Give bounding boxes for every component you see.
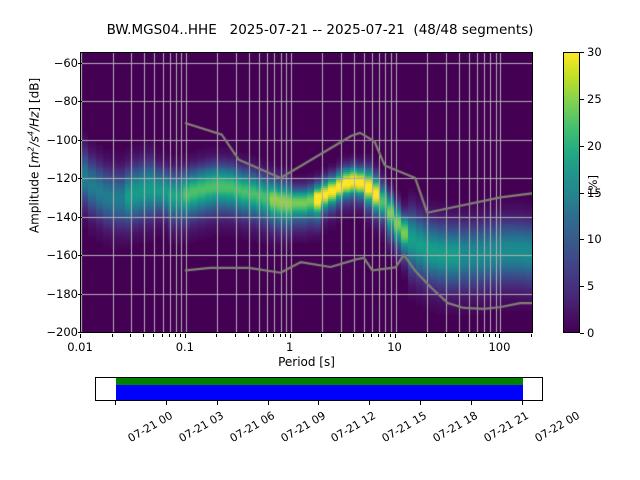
ppsd-plot-area[interactable] bbox=[80, 52, 533, 333]
y-tick-mark bbox=[78, 332, 82, 333]
x-tick-minor bbox=[483, 334, 484, 337]
x-tick-minor bbox=[390, 334, 391, 337]
timeline-date-label: 07-22 00 bbox=[532, 409, 581, 445]
x-tick-minor bbox=[489, 334, 490, 337]
x-tick-label: 0.01 bbox=[67, 340, 93, 354]
x-tick-minor bbox=[426, 334, 427, 337]
x-tick-minor bbox=[273, 334, 274, 337]
y-tick-mark bbox=[78, 294, 82, 295]
x-tick-minor bbox=[180, 334, 181, 337]
y-tick-mark bbox=[78, 178, 82, 179]
x-axis-title: Period [s] bbox=[80, 355, 533, 369]
x-tick-minor bbox=[130, 334, 131, 337]
x-tick-minor bbox=[169, 334, 170, 337]
x-tick-label: 0.1 bbox=[176, 340, 194, 354]
x-tick-major bbox=[290, 334, 291, 338]
data-coverage-band bbox=[116, 378, 523, 385]
colorbar-tick-mark bbox=[580, 52, 584, 53]
x-tick-minor bbox=[280, 334, 281, 337]
colorbar-tick-mark bbox=[580, 146, 584, 147]
x-tick-label: 1 bbox=[286, 340, 293, 354]
x-tick-minor bbox=[321, 334, 322, 337]
x-tick-minor bbox=[371, 334, 372, 337]
x-tick-label: 100 bbox=[488, 340, 510, 354]
x-tick-minor bbox=[468, 334, 469, 337]
timeline-date-labels: 07-21 0007-21 0307-21 0607-21 0907-21 12… bbox=[0, 401, 640, 471]
x-tick-major bbox=[80, 334, 81, 338]
x-tick-minor bbox=[458, 334, 459, 337]
x-tick-minor bbox=[162, 334, 163, 337]
colorbar-tick-label: 30 bbox=[587, 45, 602, 59]
ppsd-figure: BW.MGS04..HHE 2025-07-21 -- 2025-07-21 (… bbox=[0, 0, 640, 480]
x-tick-minor bbox=[153, 334, 154, 337]
timeline-date-label: 07-21 15 bbox=[380, 409, 429, 445]
x-tick-minor bbox=[216, 334, 217, 337]
x-tick-minor bbox=[235, 334, 236, 337]
timeline-date-label: 07-21 06 bbox=[227, 409, 276, 445]
x-tick-minor bbox=[112, 334, 113, 337]
colorbar-gradient bbox=[563, 52, 580, 333]
x-tick-minor bbox=[175, 334, 176, 337]
x-tick-minor bbox=[384, 334, 385, 337]
y-tick-mark bbox=[78, 101, 82, 102]
timeline-date-label: 07-21 09 bbox=[278, 409, 327, 445]
colorbar-tick-mark bbox=[580, 99, 584, 100]
x-tick-major bbox=[185, 334, 186, 338]
colorbar-tick-mark bbox=[580, 239, 584, 240]
x-tick-major bbox=[499, 334, 500, 338]
x-tick-minor bbox=[285, 334, 286, 337]
figure-title: BW.MGS04..HHE 2025-07-21 -- 2025-07-21 (… bbox=[0, 22, 640, 38]
y-tick-mark bbox=[78, 255, 82, 256]
x-tick-minor bbox=[248, 334, 249, 337]
timeline-date-label: 07-21 18 bbox=[431, 409, 480, 445]
y-tick-label: −200 bbox=[32, 325, 78, 339]
x-tick-minor bbox=[445, 334, 446, 337]
x-tick-minor bbox=[143, 334, 144, 337]
psd-histogram-canvas bbox=[81, 53, 532, 332]
x-tick-label: 10 bbox=[387, 340, 402, 354]
x-tick-minor bbox=[495, 334, 496, 337]
x-tick-major bbox=[395, 334, 396, 338]
x-tick-minor bbox=[476, 334, 477, 337]
colorbar-tick-label: 5 bbox=[587, 279, 594, 293]
y-tick-mark bbox=[78, 217, 82, 218]
x-tick-minor bbox=[363, 334, 364, 337]
colorbar-tick-label: 0 bbox=[587, 326, 594, 340]
colorbar-tick-mark bbox=[580, 333, 584, 334]
x-tick-minor bbox=[266, 334, 267, 337]
timeline-date-label: 07-21 21 bbox=[482, 409, 531, 445]
psd-coverage-band bbox=[116, 385, 523, 400]
x-tick-minor bbox=[378, 334, 379, 337]
x-tick-minor bbox=[353, 334, 354, 337]
x-tick-minor bbox=[531, 334, 532, 337]
colorbar-tick-label: 25 bbox=[587, 92, 602, 106]
x-tick-minor bbox=[340, 334, 341, 337]
colorbar-tick-mark bbox=[580, 286, 584, 287]
data-coverage-timeline[interactable] bbox=[95, 377, 543, 401]
timeline-date-label: 07-21 12 bbox=[329, 409, 378, 445]
y-axis-title: Amplitude [m2/s4/Hz] [dB] bbox=[27, 6, 42, 306]
colorbar-tick-mark bbox=[580, 193, 584, 194]
timeline-date-label: 07-21 03 bbox=[177, 409, 226, 445]
colorbar-title: [%] bbox=[586, 125, 600, 245]
y-tick-mark bbox=[78, 140, 82, 141]
x-tick-minor bbox=[258, 334, 259, 337]
y-tick-mark bbox=[78, 63, 82, 64]
timeline-date-label: 07-21 00 bbox=[126, 409, 175, 445]
